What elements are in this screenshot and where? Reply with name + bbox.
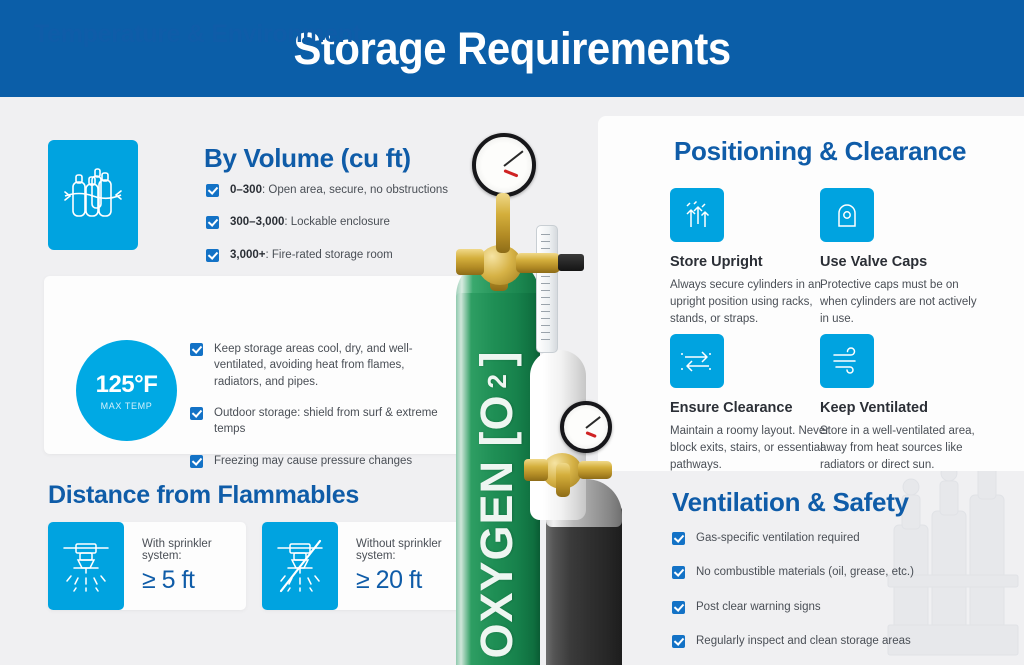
positioning-desc: Store in a well-ventilated area, away fr… — [820, 423, 980, 474]
positioning-title: Keep Ventilated — [820, 400, 980, 416]
max-temp-badge: 125°F MAX TEMP — [76, 340, 177, 441]
regulator-knob — [558, 254, 584, 271]
oxygen-cylinder-photo: OXYGEN [O2] — [438, 97, 624, 665]
positioning-title: Ensure Clearance — [670, 400, 830, 416]
two-way-arrows-icon — [670, 334, 724, 388]
positioning-heading: Positioning & Clearance — [674, 136, 966, 167]
cylinder-group-chained-icon — [48, 140, 138, 250]
list-item: 300–3,000: Lockable enclosure — [206, 214, 456, 230]
checkbox-icon[interactable] — [206, 216, 219, 229]
list-item: Regularly inspect and clean storage area… — [672, 633, 972, 649]
distance-text: With sprinkler system: ≥ 5 ft — [124, 522, 246, 610]
list-item-text: No combustible materials (oil, grease, e… — [696, 564, 914, 580]
pressure-gauge-upper — [472, 133, 536, 197]
positioning-cell-valve-caps: Use Valve Caps Protective caps must be o… — [820, 188, 980, 328]
valve-cap-icon — [820, 188, 874, 242]
checkbox-icon[interactable] — [672, 566, 685, 579]
infographic-page: Storage Requirements — [0, 0, 1024, 665]
list-item-text: 300–3,000: Lockable enclosure — [230, 214, 390, 230]
positioning-cell-ensure-clearance: Ensure Clearance Maintain a roomy layout… — [670, 334, 830, 474]
checkbox-icon[interactable] — [672, 532, 685, 545]
list-item-text: Outdoor storage: shield from surf & extr… — [214, 405, 445, 438]
checkbox-icon[interactable] — [206, 249, 219, 262]
list-item: Freezing may cause pressure changes — [190, 453, 445, 469]
ventilation-list: Gas-specific ventilation required No com… — [672, 530, 972, 649]
temperature-list: Keep storage areas cool, dry, and well-v… — [190, 341, 445, 469]
dark-cylinder — [546, 507, 622, 665]
list-item-text: Keep storage areas cool, dry, and well-v… — [214, 341, 445, 390]
list-item-text: Post clear warning signs — [696, 599, 821, 615]
wind-icon — [820, 334, 874, 388]
positioning-desc: Protective caps must be on when cylinder… — [820, 277, 980, 328]
distance-card-with-sprinkler: With sprinkler system: ≥ 5 ft — [48, 522, 246, 610]
positioning-desc: Maintain a roomy layout. Never block exi… — [670, 423, 830, 474]
list-item: No combustible materials (oil, grease, e… — [672, 564, 972, 580]
temperature-heading: Temperature & Environment — [34, 20, 361, 49]
positioning-desc: Always secure cylinders in an upright po… — [670, 277, 830, 328]
positioning-cell-store-upright: Store Upright Always secure cylinders in… — [670, 188, 830, 328]
list-item: Outdoor storage: shield from surf & extr… — [190, 405, 445, 438]
volume-heading: By Volume (cu ft) — [204, 143, 411, 174]
list-item: 0–300: Open area, secure, no obstruction… — [206, 182, 456, 198]
list-item: Gas-specific ventilation required — [672, 530, 972, 546]
flowmeter-tube — [536, 225, 558, 353]
max-temp-value: 125°F — [96, 371, 158, 399]
lower-regulator-stem — [556, 463, 570, 497]
sprinkler-disabled-icon — [262, 522, 338, 610]
ventilation-heading: Ventilation & Safety — [672, 487, 909, 518]
checkbox-icon[interactable] — [206, 184, 219, 197]
regulator-inlet-nut — [456, 249, 484, 275]
list-item: Post clear warning signs — [672, 599, 972, 615]
distance-heading: Distance from Flammables — [48, 481, 359, 510]
checkbox-icon[interactable] — [672, 635, 685, 648]
lower-regulator-inlet — [524, 459, 548, 481]
list-item-text: Freezing may cause pressure changes — [214, 453, 412, 469]
gauge-stem-upper — [496, 193, 510, 253]
list-item-text: 3,000+: Fire-rated storage room — [230, 247, 393, 263]
max-temp-label: MAX TEMP — [101, 401, 153, 411]
sprinkler-icon — [48, 522, 124, 610]
lower-regulator-arm — [578, 461, 612, 479]
checkbox-icon[interactable] — [190, 455, 203, 468]
positioning-title: Use Valve Caps — [820, 254, 980, 270]
positioning-cell-keep-ventilated: Keep Ventilated Store in a well-ventilat… — [820, 334, 980, 474]
checkbox-icon[interactable] — [190, 343, 203, 356]
list-item-text: 0–300: Open area, secure, no obstruction… — [230, 182, 448, 198]
list-item: Keep storage areas cool, dry, and well-v… — [190, 341, 445, 390]
list-item-text: Regularly inspect and clean storage area… — [696, 633, 911, 649]
regulator-outlet-arm — [516, 253, 560, 273]
positioning-title: Store Upright — [670, 254, 830, 270]
distance-value: ≥ 5 ft — [142, 566, 236, 595]
distance-caption: With sprinkler system: — [142, 538, 236, 562]
checkbox-icon[interactable] — [190, 407, 203, 420]
volume-list: 0–300: Open area, secure, no obstruction… — [206, 182, 456, 263]
pressure-gauge-lower — [560, 401, 612, 453]
up-arrows-icon — [670, 188, 724, 242]
list-item-text: Gas-specific ventilation required — [696, 530, 860, 546]
checkbox-icon[interactable] — [672, 601, 685, 614]
list-item: 3,000+: Fire-rated storage room — [206, 247, 456, 263]
